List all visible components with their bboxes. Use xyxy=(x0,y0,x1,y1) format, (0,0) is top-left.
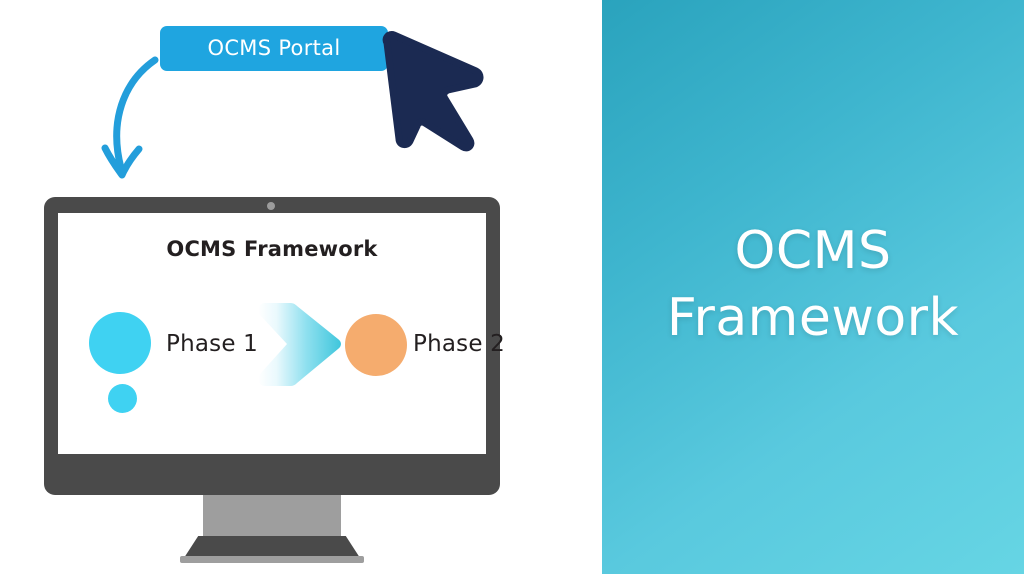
monitor-illustration: OCMS Framework Phase 1 Phase 2 xyxy=(44,197,500,495)
curved-down-arrow-icon xyxy=(93,52,208,192)
chevron-right-icon xyxy=(255,297,345,392)
monitor-stand-neck xyxy=(203,495,341,536)
slide-canvas: OCMS Framework OCMS Portal OCMS Framewor… xyxy=(0,0,1024,574)
webcam-dot-icon xyxy=(267,202,275,210)
ocms-portal-button[interactable]: OCMS Portal xyxy=(160,26,388,71)
phase-1-marker xyxy=(89,312,151,374)
phase-1-secondary-dot xyxy=(108,384,137,413)
screen-title: OCMS Framework xyxy=(58,237,486,261)
monitor-stand-foot xyxy=(180,556,364,563)
right-title-panel: OCMS Framework xyxy=(602,0,1024,574)
monitor-screen: OCMS Framework Phase 1 Phase 2 xyxy=(58,213,486,454)
phase-2-marker xyxy=(345,314,407,376)
right-panel-title: OCMS Framework xyxy=(602,218,1024,351)
phase-2-label: Phase 2 xyxy=(413,331,505,357)
phase-1-label: Phase 1 xyxy=(166,331,258,357)
cursor-arrow-icon xyxy=(378,28,508,153)
